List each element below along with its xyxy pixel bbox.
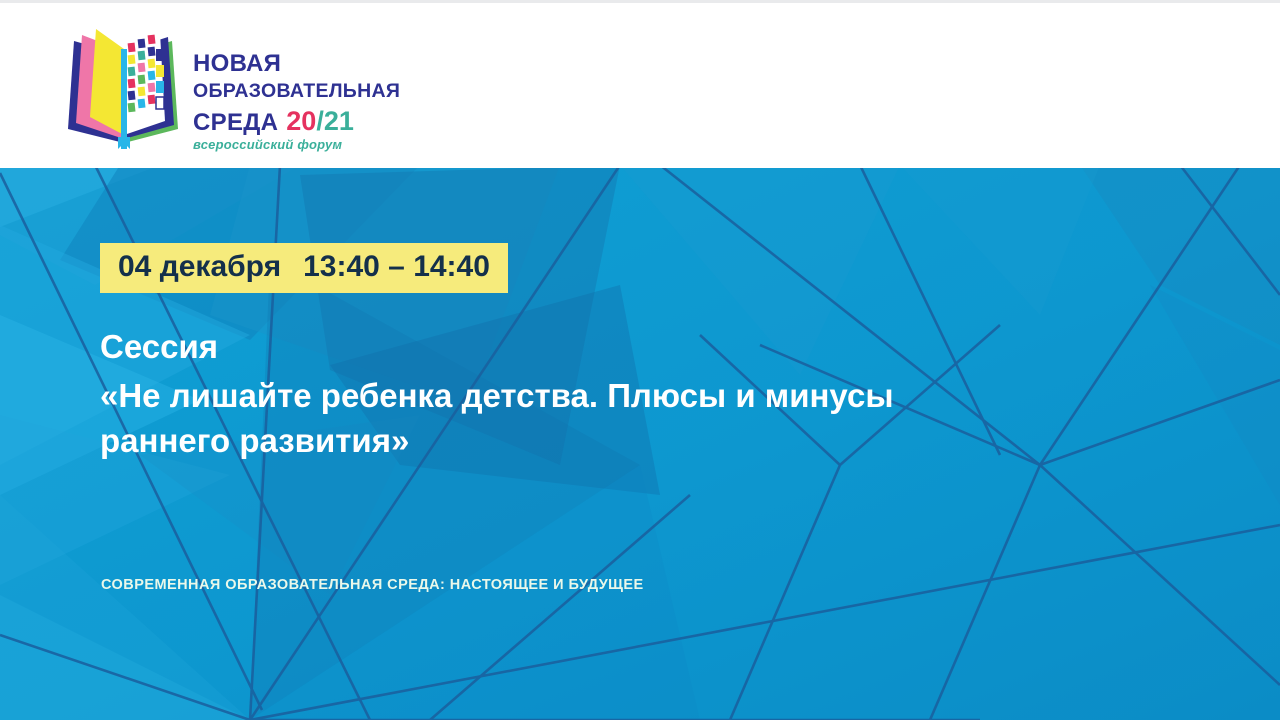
session-time: 13:40 – 14:40 bbox=[303, 252, 490, 282]
session-title: «Не лишайте ребенка детства. Плюсы и мин… bbox=[100, 373, 1040, 464]
header-band: НОВАЯ ОБРАЗОВАТЕЛЬНАЯ СРЕДА 20/21 всерос… bbox=[0, 0, 1280, 168]
logo-line-1: НОВАЯ bbox=[193, 52, 433, 76]
session-title-line-1: «Не лишайте ребенка детства. Плюсы и мин… bbox=[100, 373, 1040, 419]
logo-line-2: ОБРАЗОВАТЕЛЬНАЯ bbox=[193, 82, 433, 102]
logo-year-first: 20 bbox=[286, 106, 316, 136]
logo-year-second: 21 bbox=[324, 106, 354, 136]
forum-tagline: СОВРЕМЕННАЯ ОБРАЗОВАТЕЛЬНАЯ СРЕДА: НАСТО… bbox=[101, 577, 644, 593]
session-kicker: Сессия bbox=[100, 325, 1040, 369]
forum-logo: НОВАЯ ОБРАЗОВАТЕЛЬНАЯ СРЕДА 20/21 всерос… bbox=[60, 25, 380, 155]
session-datetime-banner: 04 декабря 13:40 – 14:40 bbox=[100, 243, 508, 293]
session-date: 04 декабря bbox=[118, 252, 281, 282]
open-book-logo-icon bbox=[60, 25, 188, 149]
presentation-slide: НОВАЯ ОБРАЗОВАТЕЛЬНАЯ СРЕДА 20/21 всерос… bbox=[0, 0, 1280, 720]
session-title-line-2: раннего развития» bbox=[100, 418, 1040, 464]
logo-line-3-row: СРЕДА 20/21 bbox=[193, 108, 433, 135]
logo-subtitle: всероссийский форум bbox=[193, 138, 433, 151]
logo-wordmark: НОВАЯ ОБРАЗОВАТЕЛЬНАЯ СРЕДА 20/21 всерос… bbox=[193, 52, 433, 151]
session-text-block: Сессия «Не лишайте ребенка детства. Плюс… bbox=[100, 325, 1040, 464]
logo-year: 20/21 bbox=[286, 108, 354, 135]
logo-line-3: СРЕДА bbox=[193, 111, 278, 135]
logo-year-slash: / bbox=[316, 106, 324, 136]
